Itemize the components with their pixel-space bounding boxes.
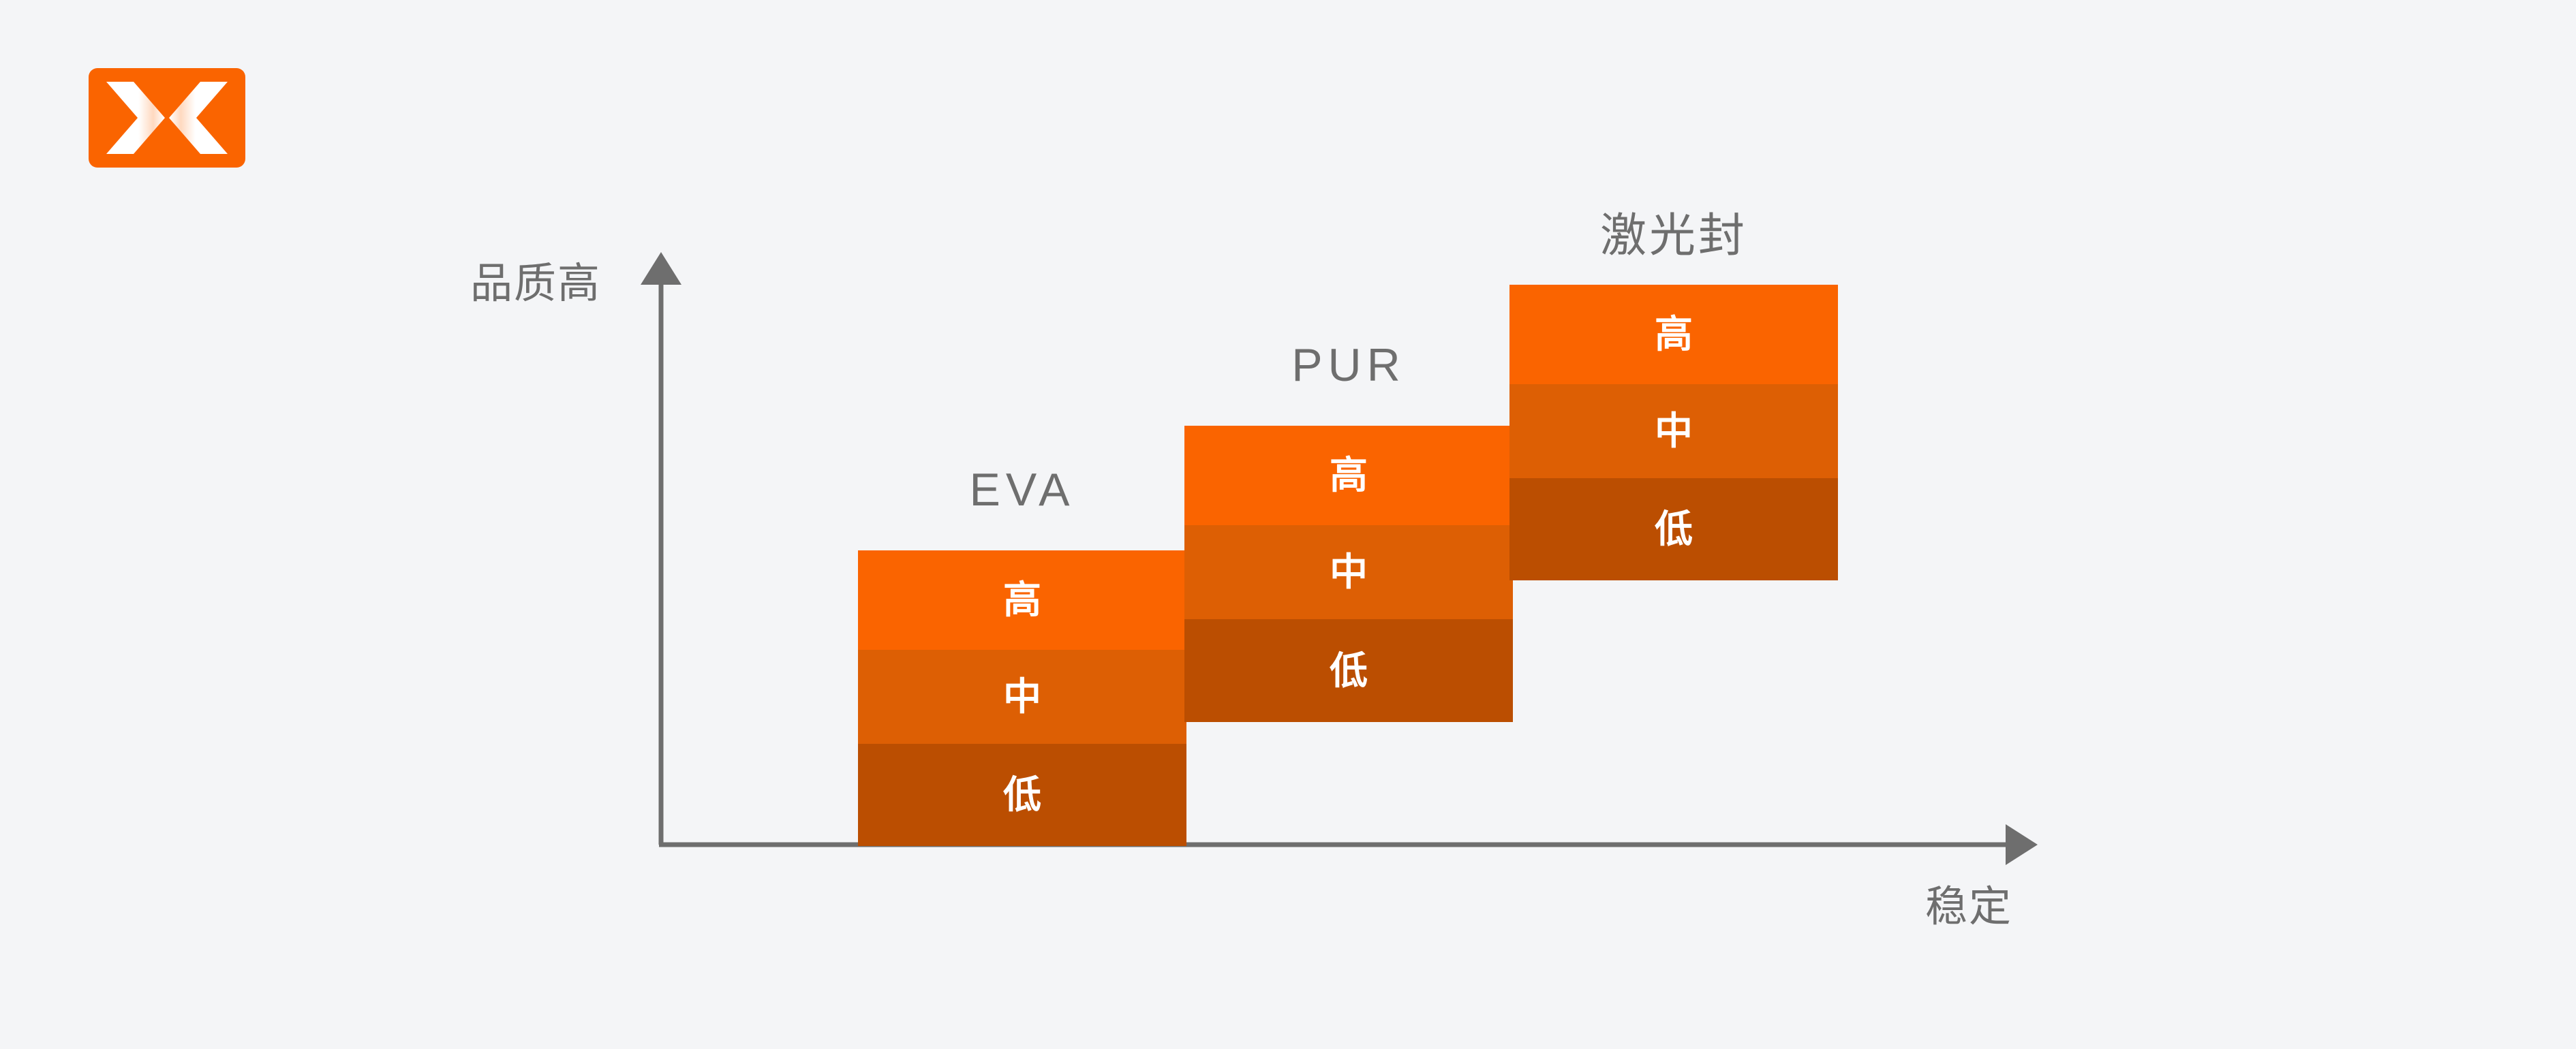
bar-stack-2: 高 中 低 [1184, 426, 1513, 722]
bar-segment-medium-3[interactable]: 中 [1509, 384, 1838, 478]
bar-segment-low-1[interactable]: 低 [858, 744, 1186, 846]
bar-stack-1: 高 中 低 [858, 550, 1186, 846]
bar-segment-high-3[interactable]: 高 [1509, 285, 1838, 384]
bar-segment-low-2[interactable]: 低 [1184, 619, 1513, 722]
bar-label-2: PUR [1184, 339, 1513, 392]
stacked-bar-chart: 品质高 稳定 EVA 高 中 低 PUR 高 中 低 激光封 高 中 低 [0, 0, 2576, 1049]
bar-group-2: PUR 高 中 低 [1184, 339, 1513, 722]
bar-label-3: 激光封 [1509, 198, 1838, 265]
bar-segment-low-3[interactable]: 低 [1509, 478, 1838, 580]
bar-group-3: 激光封 高 中 低 [1509, 198, 1838, 580]
bar-segment-medium-2[interactable]: 中 [1184, 525, 1513, 619]
x-axis-title: 稳定 [1925, 872, 2012, 933]
bar-segment-medium-1[interactable]: 中 [858, 650, 1186, 744]
bar-stack-3: 高 中 低 [1509, 285, 1838, 580]
bar-label-1: EVA [858, 463, 1186, 516]
bar-group-1: EVA 高 中 低 [858, 463, 1186, 846]
bar-segment-high-1[interactable]: 高 [858, 550, 1186, 650]
y-axis-title: 品质高 [470, 249, 601, 310]
bar-segment-high-2[interactable]: 高 [1184, 426, 1513, 525]
